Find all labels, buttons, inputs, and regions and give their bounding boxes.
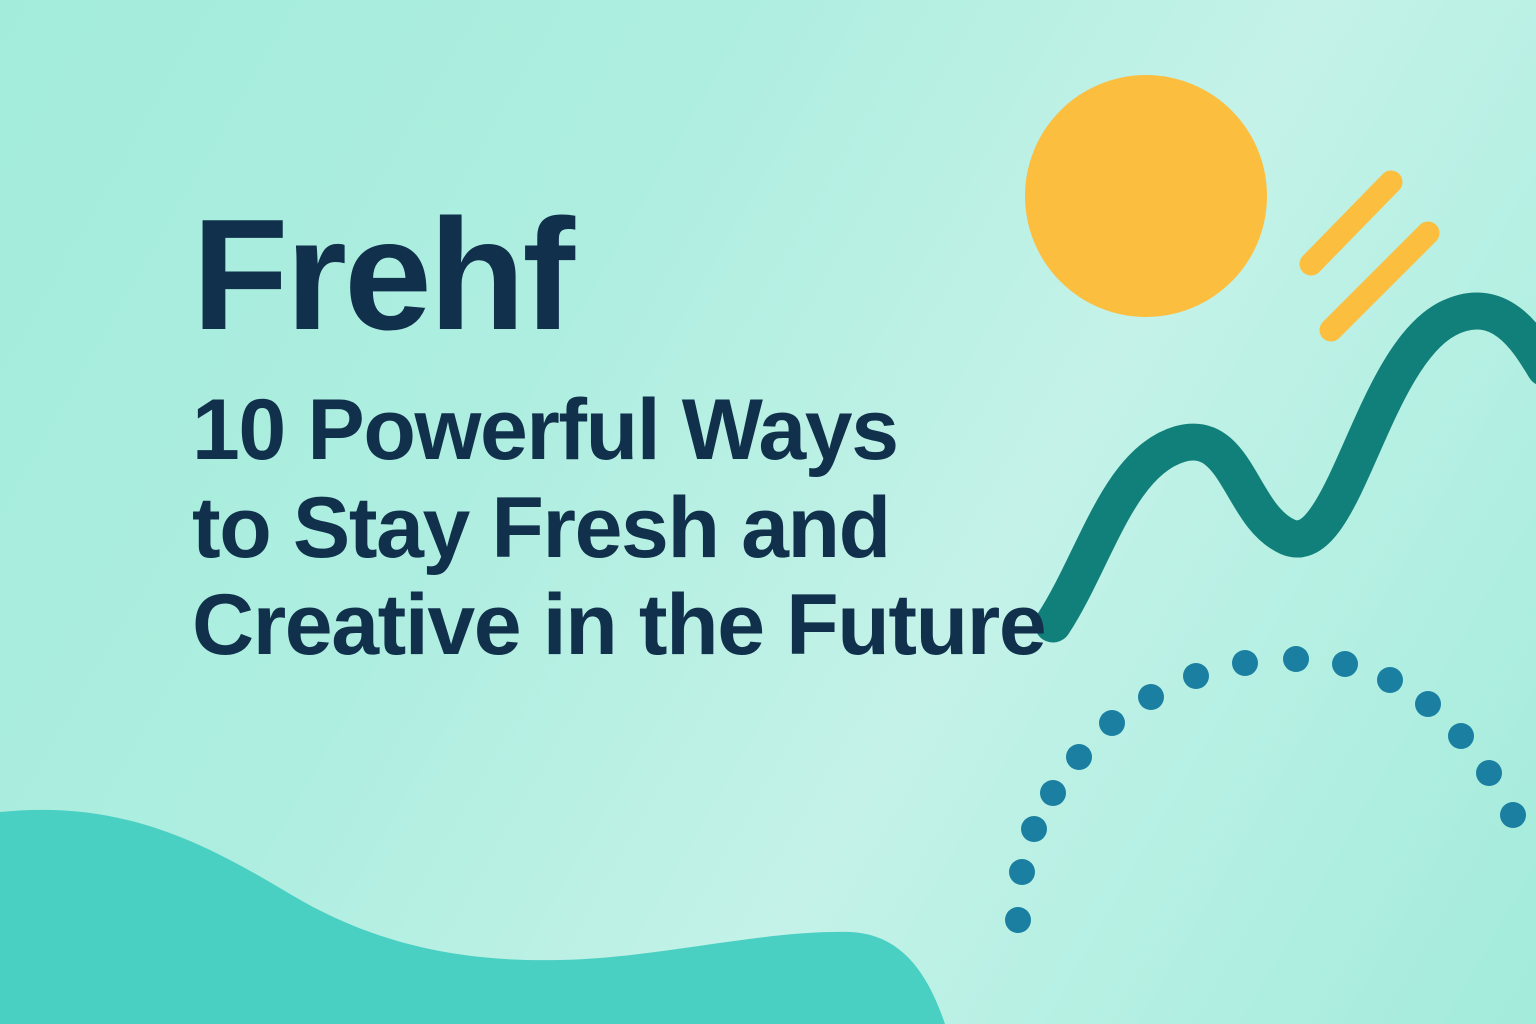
arc-dot (1099, 710, 1125, 736)
teal-wave-line (1053, 311, 1536, 624)
arc-dot (1183, 663, 1209, 689)
banner-canvas: Frehf 10 Powerful Ways to Stay Fresh and… (0, 0, 1536, 1024)
dotted-arc (1005, 646, 1526, 933)
brand-title: Frehf (192, 196, 1045, 354)
headline-line-3: Creative in the Future (192, 577, 1045, 675)
text-block: Frehf 10 Powerful Ways to Stay Fresh and… (192, 196, 1045, 675)
arc-dot (1476, 760, 1502, 786)
arc-dot (1232, 650, 1258, 676)
sun-icon (1025, 75, 1267, 317)
arc-dot (1283, 646, 1309, 672)
bottom-wave-shape (0, 810, 945, 1024)
sun-ray-upper-icon (1311, 182, 1391, 264)
arc-dot (1448, 723, 1474, 749)
arc-dot (1009, 859, 1035, 885)
headline-line-2: to Stay Fresh and (192, 480, 1045, 578)
arc-dot (1138, 684, 1164, 710)
arc-dot (1500, 802, 1526, 828)
arc-dot (1021, 816, 1047, 842)
sun-ray-lower-icon (1331, 233, 1428, 330)
arc-dot (1005, 907, 1031, 933)
arc-dot (1415, 691, 1441, 717)
headline: 10 Powerful Ways to Stay Fresh and Creat… (192, 354, 1045, 675)
arc-dot (1377, 667, 1403, 693)
arc-dot (1332, 651, 1358, 677)
arc-dot (1066, 744, 1092, 770)
headline-line-1: 10 Powerful Ways (192, 382, 1045, 480)
arc-dot (1040, 780, 1066, 806)
